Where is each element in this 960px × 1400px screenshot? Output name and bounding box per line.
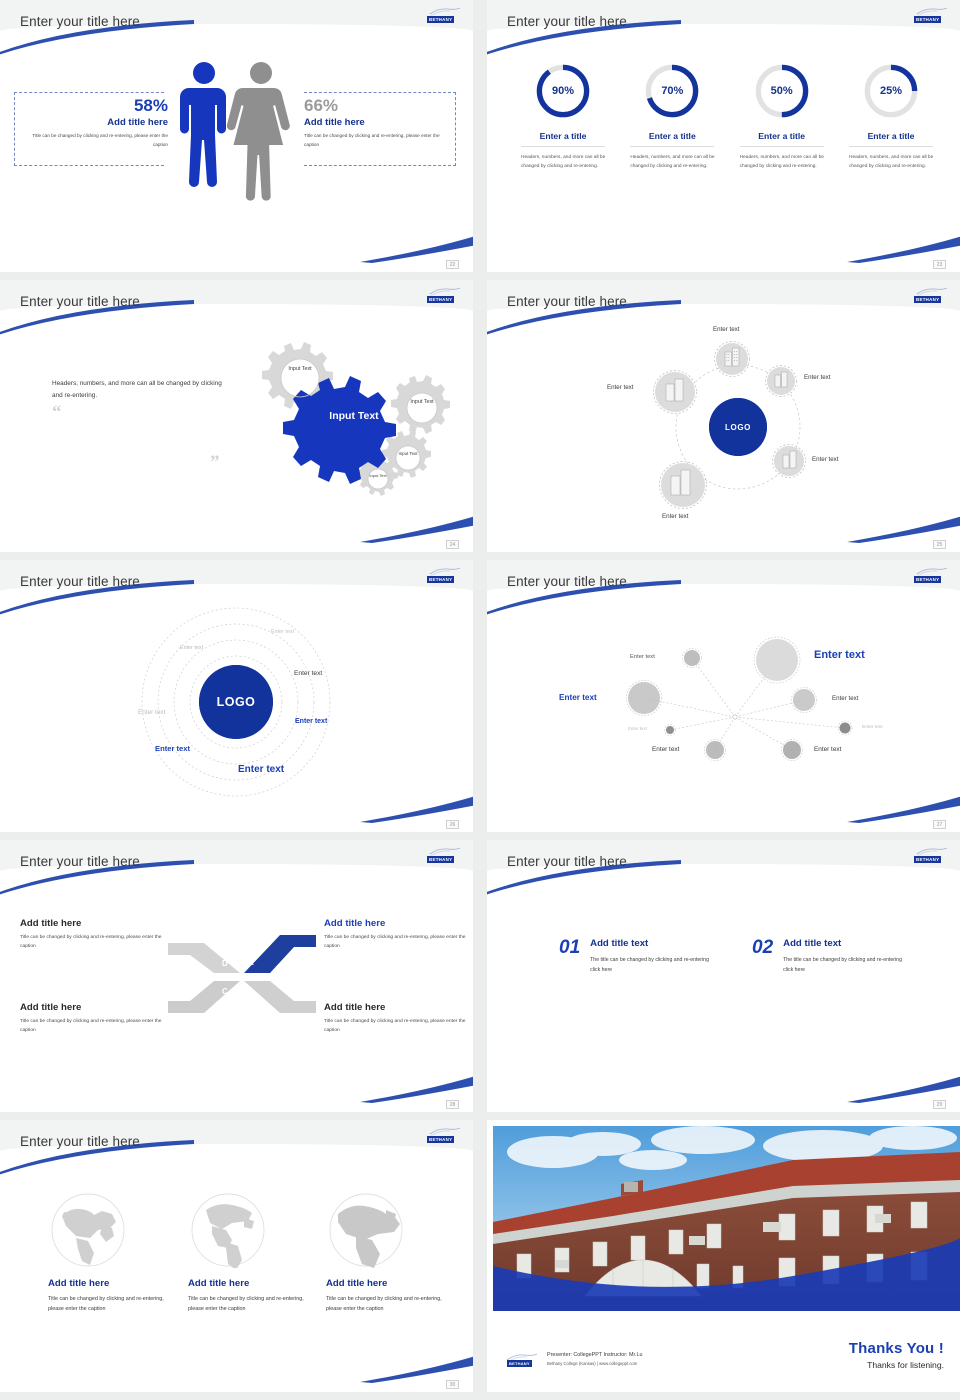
quadrant-letter-c: C xyxy=(222,987,228,996)
item-number: 02 xyxy=(752,938,773,975)
page-number: 25 xyxy=(933,540,946,549)
logo-wordmark: BETHANY xyxy=(507,1360,532,1367)
quadrant-shape-b xyxy=(244,981,316,1013)
donut-value: 25% xyxy=(860,60,922,122)
numbered-item-01: 01 Add title text The title can be chang… xyxy=(559,938,720,975)
logo-wordmark: BETHANY xyxy=(914,296,941,303)
bethany-logo-icon: BETHANY xyxy=(427,1127,461,1144)
network-node-label: Enter text xyxy=(814,649,865,661)
column-heading: Add title here xyxy=(326,1278,454,1289)
ring-label-large: Enter text xyxy=(238,764,284,775)
logo-wordmark: BETHANY xyxy=(914,856,941,863)
divider xyxy=(521,146,605,147)
donut-card[interactable]: 25% Enter a title Headers, numbers, and … xyxy=(845,60,937,171)
slide-thumbnail-25[interactable]: Enter your title here BETHANY xyxy=(487,280,960,552)
slide-thumbnail-closing[interactable]: BETHANY Presenter: CollegePPT Instructor… xyxy=(487,1120,960,1392)
quadrant-letter-a: A xyxy=(248,958,254,967)
bethany-logo-icon: BETHANY xyxy=(427,287,461,304)
quadrant-letter-b: B xyxy=(248,987,254,996)
donut-title: Enter a title xyxy=(626,131,718,141)
item-heading: Add title text xyxy=(783,938,913,949)
bethany-logo-icon: BETHANY xyxy=(427,7,461,24)
thanks-title: Thanks You ! xyxy=(849,1340,944,1357)
donut-chart-90: 90% xyxy=(532,60,594,122)
network-node-label: Enter text xyxy=(630,654,655,660)
ring-label: Enter text xyxy=(155,744,190,753)
network-node-label: Enter text xyxy=(814,746,841,753)
quadrant-shape-d xyxy=(168,943,240,973)
donut-chart-25: 25% xyxy=(860,60,922,122)
quadrant-heading: Add title here xyxy=(20,918,170,929)
quote-block: Headers, numbers, and more can all be ch… xyxy=(52,378,232,402)
slide-deck: Enter your title here BETHANY 58% Add ti… xyxy=(0,0,960,1400)
slide-thumbnail-22[interactable]: Enter your title here BETHANY 58% Add ti… xyxy=(0,0,473,272)
logo-wordmark: BETHANY xyxy=(427,856,454,863)
donut-caption: Headers, numbers, and more can all be ch… xyxy=(845,153,937,171)
logo-wordmark: BETHANY xyxy=(427,296,454,303)
globe-column: Add title here Title can be changed by c… xyxy=(326,1192,454,1315)
campus-building-photo xyxy=(493,1126,960,1311)
page-number: 28 xyxy=(446,1100,459,1109)
left-stat-block: 58% Add title here Title can be changed … xyxy=(18,96,168,149)
thanks-subtitle: Thanks for listening. xyxy=(849,1360,944,1370)
hub-node-label: Enter text xyxy=(804,374,830,381)
hub-node-label: Enter text xyxy=(662,513,688,520)
column-caption: Title can be changed by clicking and re-… xyxy=(326,1294,454,1315)
slide-thumbnail-26[interactable]: Enter your title here BETHANY LOGO xyxy=(0,560,473,832)
center-logo-circle: LOGO xyxy=(199,665,273,739)
slide-thumbnail-29[interactable]: Enter your title here BETHANY xyxy=(487,840,960,1112)
donut-card[interactable]: 50% Enter a title Headers, numbers, and … xyxy=(736,60,828,171)
concentric-rings-diagram: LOGO Enter text Enter text Enter text En… xyxy=(0,560,473,832)
page-number: 30 xyxy=(446,1380,459,1389)
column-caption: Title can be changed by clicking and re-… xyxy=(188,1294,316,1315)
bethany-logo-icon: BETHANY xyxy=(505,1350,539,1367)
page-number: 27 xyxy=(933,820,946,829)
donut-chart-70: 70% xyxy=(641,60,703,122)
network-node-label: Enter text xyxy=(862,725,883,730)
column-heading: Add title here xyxy=(48,1278,176,1289)
quadrant-caption: Title can be changed by clicking and re-… xyxy=(20,1017,170,1035)
butterfly-chevron-diagram: D A C B xyxy=(168,925,316,1030)
quadrant-letter-d: D xyxy=(222,959,228,968)
quote-text: Headers, numbers, and more can all be ch… xyxy=(52,378,232,402)
logo-wordmark: BETHANY xyxy=(427,16,454,23)
bethany-logo-icon: BETHANY xyxy=(914,7,948,24)
network-node-label: Enter text xyxy=(832,695,858,702)
ring-label: Enter text xyxy=(271,629,294,635)
globe-column: Add title here Title can be changed by c… xyxy=(48,1192,176,1315)
credit-line-1: Presenter: CollegePPT Instructor: Mr.Lu xyxy=(547,1352,642,1358)
center-logo-label: LOGO xyxy=(217,695,256,709)
right-percent: 66% xyxy=(304,96,454,116)
donut-card[interactable]: 70% Enter a title Headers, numbers, and … xyxy=(626,60,718,171)
slide-thumbnail-28[interactable]: Enter your title here BETHANY Add title … xyxy=(0,840,473,1112)
right-caption: Title can be changed by clicking and re-… xyxy=(304,132,454,149)
quadrant-heading: Add title here xyxy=(20,1002,170,1013)
page-number: 24 xyxy=(446,540,459,549)
page-number: 26 xyxy=(446,820,459,829)
item-caption: The title can be changed by clicking and… xyxy=(783,956,913,975)
column-heading: Add title here xyxy=(188,1278,316,1289)
quadrant-heading: Add title here xyxy=(324,1002,473,1013)
center-logo-label: LOGO xyxy=(725,423,751,432)
numbered-item-02: 02 Add title text The title can be chang… xyxy=(752,938,913,975)
donut-value: 90% xyxy=(532,60,594,122)
quadrant-text-top-left: Add title here Title can be changed by c… xyxy=(20,918,170,951)
page-number: 22 xyxy=(446,260,459,269)
divider xyxy=(630,146,714,147)
globe-icon-asia xyxy=(50,1192,126,1268)
hub-node-label: Enter text xyxy=(607,384,633,391)
logo-wordmark: BETHANY xyxy=(427,576,454,583)
donut-value: 50% xyxy=(751,60,813,122)
center-logo-circle: LOGO xyxy=(709,398,767,456)
donut-title: Enter a title xyxy=(845,131,937,141)
globe-icon-europe-africa xyxy=(328,1192,404,1268)
logo-wordmark: BETHANY xyxy=(914,16,941,23)
globe-icon-americas xyxy=(190,1192,266,1268)
page-number: 29 xyxy=(933,1100,946,1109)
ring-label: Enter text xyxy=(138,709,165,716)
globe-column: Add title here Title can be changed by c… xyxy=(188,1192,316,1315)
network-diagram: Enter text Enter text Enter text Enter t… xyxy=(487,560,960,832)
quadrant-text-bottom-left: Add title here Title can be changed by c… xyxy=(20,1002,170,1035)
hub-node-label: Enter text xyxy=(713,326,739,333)
quadrant-shape-a xyxy=(244,935,316,973)
network-node-label: Enter text xyxy=(559,693,597,702)
bethany-logo-icon: BETHANY xyxy=(427,847,461,864)
slide-thumbnail-30[interactable]: Enter your title here BETHANY xyxy=(0,1120,473,1392)
divider xyxy=(740,146,824,147)
bethany-logo-icon: BETHANY xyxy=(914,567,948,584)
donut-caption: Headers, numbers, and more can all be ch… xyxy=(626,153,718,171)
item-caption: The title can be changed by clicking and… xyxy=(590,956,720,975)
bethany-logo-icon: BETHANY xyxy=(914,287,948,304)
donut-caption: Headers, numbers, and more can all be ch… xyxy=(517,153,609,171)
hub-node-label: Enter text xyxy=(812,456,838,463)
quadrant-caption: Title can be changed by clicking and re-… xyxy=(324,933,473,951)
slide-thumbnail-23[interactable]: Enter your title here BETHANY 90% xyxy=(487,0,960,272)
divider xyxy=(849,146,933,147)
network-node-label: Enter text xyxy=(628,726,647,731)
right-stat-block: 66% Add title here Title can be changed … xyxy=(304,96,454,149)
donut-value: 70% xyxy=(641,60,703,122)
quadrant-heading: Add title here xyxy=(324,918,473,929)
quadrant-text-top-right: Add title here Title can be changed by c… xyxy=(324,918,473,951)
page-number: 23 xyxy=(933,260,946,269)
male-figure-icon xyxy=(180,62,226,187)
ring-label: Enter text xyxy=(295,718,327,725)
donut-title: Enter a title xyxy=(736,131,828,141)
gender-figures xyxy=(176,58,296,210)
item-number: 01 xyxy=(559,938,580,975)
left-subtitle: Add title here xyxy=(18,117,168,128)
donut-title: Enter a title xyxy=(517,131,609,141)
quote-open-icon: “ xyxy=(52,408,62,418)
item-heading: Add title text xyxy=(590,938,720,949)
logo-wordmark: BETHANY xyxy=(427,1136,454,1143)
hub-spoke-diagram: LOGO Enter text Enter text Enter text En… xyxy=(487,280,960,552)
donut-caption: Headers, numbers, and more can all be ch… xyxy=(736,153,828,171)
slide-thumbnail-27[interactable]: Enter your title here BETHANY xyxy=(487,560,960,832)
quadrant-caption: Title can be changed by clicking and re-… xyxy=(324,1017,473,1035)
bethany-logo-icon: BETHANY xyxy=(914,847,948,864)
female-figure-icon xyxy=(227,62,290,201)
donut-row: 90% Enter a title Headers, numbers, and … xyxy=(517,60,937,171)
quadrant-caption: Title can be changed by clicking and re-… xyxy=(20,933,170,951)
left-percent: 58% xyxy=(18,96,168,116)
thanks-block: Thanks You ! Thanks for listening. xyxy=(849,1340,944,1370)
presenter-credit: Presenter: CollegePPT Instructor: Mr.Lu … xyxy=(547,1352,642,1366)
quadrant-shape-c xyxy=(168,981,240,1013)
slide-thumbnail-24[interactable]: Enter your title here BETHANY “ ” Header… xyxy=(0,280,473,552)
quadrant-text-bottom-right: Add title here Title can be changed by c… xyxy=(324,1002,473,1035)
donut-card[interactable]: 90% Enter a title Headers, numbers, and … xyxy=(517,60,609,171)
right-subtitle: Add title here xyxy=(304,117,454,128)
quote-close-icon: ” xyxy=(210,458,220,468)
left-caption: Title can be changed by clicking and re-… xyxy=(18,132,168,149)
column-caption: Title can be changed by clicking and re-… xyxy=(48,1294,176,1315)
gear-cluster: Input Text Input Text Input Text Input T… xyxy=(222,328,462,508)
donut-chart-50: 50% xyxy=(751,60,813,122)
network-node-label: Enter text xyxy=(652,746,679,753)
logo-wordmark: BETHANY xyxy=(914,576,941,583)
ring-label: Enter text xyxy=(180,645,203,651)
ring-label: Enter text xyxy=(294,670,322,677)
credit-line-2: Bethany College (Kansas) | www.collegepp… xyxy=(547,1361,642,1366)
bethany-logo-icon: BETHANY xyxy=(427,567,461,584)
